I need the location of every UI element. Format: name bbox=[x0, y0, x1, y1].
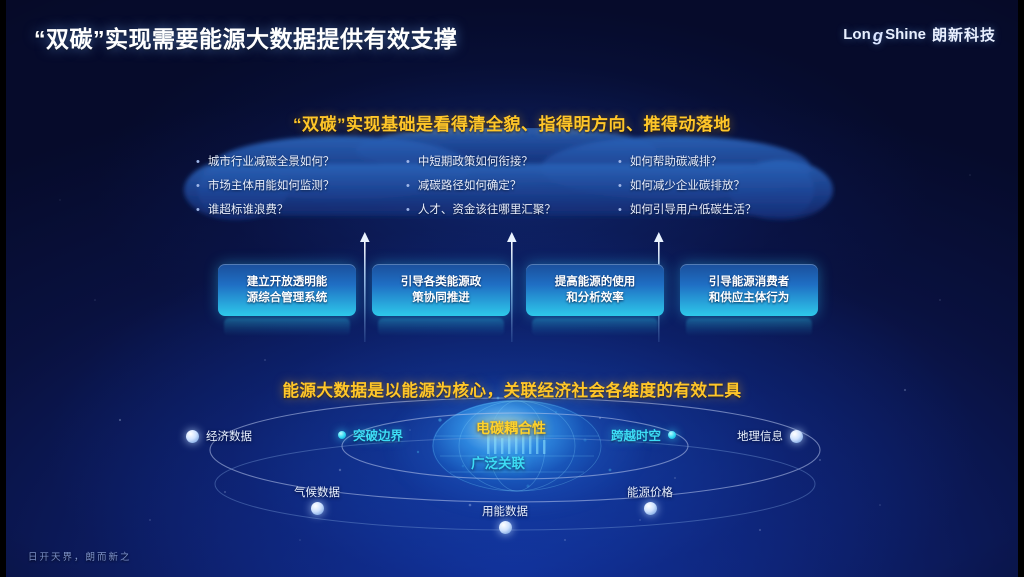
action-card[interactable]: 引导各类能源政 策协同推进 bbox=[372, 264, 510, 316]
question-text: 如何帮助碳减排？ bbox=[630, 152, 722, 173]
question-text: 如何引导用户低碳生活？ bbox=[630, 200, 757, 221]
node-dot-icon bbox=[338, 431, 346, 439]
question-item: • 市场主体用能如何监测？ bbox=[196, 176, 406, 200]
cloud-subtitle: “双碳”实现基础是看得清全貌、指得明方向、推得动落地 bbox=[0, 110, 1024, 135]
question-text: 城市行业减碳全景如何？ bbox=[208, 152, 335, 173]
orbit-node-label: 突破边界 bbox=[353, 425, 403, 444]
node-dot-icon bbox=[668, 431, 676, 439]
slide-canvas: “双碳”实现需要能源大数据提供有效支撑 Lon g Shine 朗新科技 bbox=[0, 0, 1024, 577]
question-text: 如何减少企业碳排放？ bbox=[630, 176, 745, 197]
node-dot-icon bbox=[186, 430, 199, 443]
orbit-node-label: 气候数据 bbox=[294, 484, 340, 500]
logo-glyph-g: g bbox=[873, 26, 883, 46]
orbit-node-label: 用能数据 bbox=[482, 503, 528, 519]
question-column-2: • 中短期政策如何衔接？ • 减碳路径如何确定？ • 人才、资金该往哪里汇聚？ bbox=[406, 152, 618, 232]
action-card[interactable]: 提高能源的使用 和分析效率 bbox=[526, 264, 664, 316]
question-item: • 城市行业减碳全景如何？ bbox=[196, 152, 406, 176]
orbit-node-label: 经济数据 bbox=[206, 428, 252, 444]
action-card-row: 建立开放透明能 源综合管理系统 引导各类能源政 策协同推进 提高能源的使用 和分… bbox=[218, 264, 818, 328]
question-item: • 谁超标谁浪费？ bbox=[196, 200, 406, 224]
question-column-3: • 如何帮助碳减排？ • 如何减少企业碳排放？ • 如何引导用户低碳生活？ bbox=[618, 152, 836, 232]
card-line-2: 和供应主体行为 bbox=[709, 292, 790, 304]
card-line-1: 引导能源消费者 bbox=[709, 276, 790, 288]
orbit-node-label: 地理信息 bbox=[737, 428, 783, 444]
node-dot-icon bbox=[790, 430, 803, 443]
orbit-node-break-boundaries[interactable]: 突破边界 bbox=[338, 425, 403, 444]
question-item: • 减碳路径如何确定？ bbox=[406, 176, 618, 200]
arrow-head bbox=[360, 232, 664, 242]
bullet-icon: • bbox=[196, 200, 200, 220]
action-card-text: 引导各类能源政 策协同推进 bbox=[395, 274, 488, 306]
bullet-icon: • bbox=[196, 176, 200, 196]
orbit-diagram: 经济数据 突破边界 跨越时空 地理信息 气候数据 用能数据 能源价 bbox=[0, 388, 1024, 548]
action-card[interactable]: 引导能源消费者 和供应主体行为 bbox=[680, 264, 818, 316]
brand-logo: Lon g Shine 朗新科技 bbox=[843, 24, 996, 45]
card-line-1: 建立开放透明能 bbox=[247, 276, 328, 288]
footer-slogan: 日开天界，朗而新之 bbox=[28, 549, 132, 563]
question-column-1: • 城市行业减碳全景如何？ • 市场主体用能如何监测？ • 谁超标谁浪费？ bbox=[196, 152, 406, 232]
question-text: 谁超标谁浪费？ bbox=[208, 200, 289, 221]
orbit-node-energy-price[interactable]: 能源价格 bbox=[627, 484, 673, 515]
question-text: 市场主体用能如何监测？ bbox=[208, 176, 335, 197]
bullet-icon: • bbox=[406, 200, 410, 220]
action-card-text: 引导能源消费者 和供应主体行为 bbox=[703, 274, 796, 306]
logo-text-lon: Lon bbox=[843, 26, 871, 43]
orbit-node-label: 跨越时空 bbox=[611, 425, 661, 444]
card-line-1: 提高能源的使用 bbox=[555, 276, 636, 288]
question-item: • 如何减少企业碳排放？ bbox=[618, 176, 836, 200]
orbit-node-label: 能源价格 bbox=[627, 484, 673, 500]
node-dot-icon bbox=[644, 502, 657, 515]
node-dot-icon bbox=[499, 521, 512, 534]
bullet-icon: • bbox=[406, 176, 410, 196]
question-item: • 如何帮助碳减排？ bbox=[618, 152, 836, 176]
orbit-node-cross-spacetime[interactable]: 跨越时空 bbox=[611, 425, 676, 444]
question-columns: • 城市行业减碳全景如何？ • 市场主体用能如何监测？ • 谁超标谁浪费？ • … bbox=[196, 152, 836, 232]
bullet-icon: • bbox=[618, 200, 622, 220]
section-heading-2: 能源大数据是以能源为核心，关联经济社会各维度的有效工具 bbox=[0, 377, 1024, 401]
page-title: “双碳”实现需要能源大数据提供有效支撑 bbox=[34, 20, 458, 54]
orbit-node-energy-usage-data[interactable]: 用能数据 bbox=[482, 503, 528, 534]
question-item: • 人才、资金该往哪里汇聚？ bbox=[406, 200, 618, 224]
action-card-text: 提高能源的使用 和分析效率 bbox=[549, 274, 642, 306]
card-line-2: 源综合管理系统 bbox=[247, 292, 328, 304]
action-card[interactable]: 建立开放透明能 源综合管理系统 bbox=[218, 264, 356, 316]
card-line-1: 引导各类能源政 bbox=[401, 276, 482, 288]
question-text: 中短期政策如何衔接？ bbox=[418, 152, 533, 173]
question-item: • 如何引导用户低碳生活？ bbox=[618, 200, 836, 224]
action-card-text: 建立开放透明能 源综合管理系统 bbox=[241, 274, 334, 306]
card-line-2: 和分析效率 bbox=[566, 292, 624, 304]
bullet-icon: • bbox=[618, 176, 622, 196]
bullet-icon: • bbox=[196, 152, 200, 172]
orbit-node-economic-data[interactable]: 经济数据 bbox=[186, 428, 252, 444]
logo-text-shine: Shine bbox=[885, 26, 926, 43]
center-label-secondary: 广泛关联 bbox=[471, 452, 525, 472]
center-label-primary: 电碳耦合性 bbox=[476, 418, 546, 438]
question-text: 减碳路径如何确定？ bbox=[418, 176, 522, 197]
card-line-2: 策协同推进 bbox=[412, 292, 470, 304]
orbit-node-climate-data[interactable]: 气候数据 bbox=[294, 484, 340, 515]
node-dot-icon bbox=[311, 502, 324, 515]
bullet-icon: • bbox=[406, 152, 410, 172]
question-text: 人才、资金该往哪里汇聚？ bbox=[418, 200, 556, 221]
orbit-node-geographic-info[interactable]: 地理信息 bbox=[737, 428, 803, 444]
bullet-icon: • bbox=[618, 152, 622, 172]
logo-text-chinese: 朗新科技 bbox=[932, 24, 996, 45]
question-item: • 中短期政策如何衔接？ bbox=[406, 152, 618, 176]
